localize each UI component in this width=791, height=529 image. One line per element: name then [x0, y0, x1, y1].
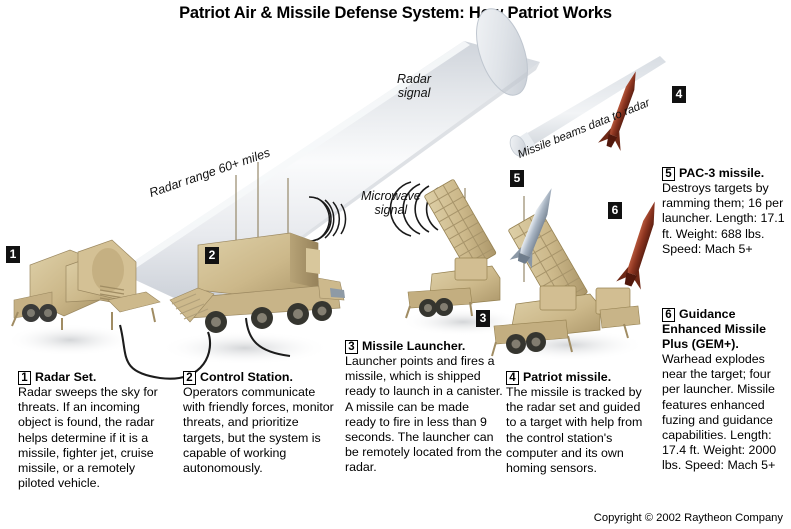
badge-1-radar-set: 1: [6, 246, 20, 263]
callout-6-badge: 6: [662, 308, 675, 322]
microwave-signal-label-line1: Microwave: [361, 189, 421, 203]
callout-2-control-station: 2Control Station. Operators communicate …: [183, 370, 335, 476]
callout-6-body: Warhead explodes near the target; four p…: [662, 352, 790, 474]
callout-5-header: 5PAC-3 missile.: [662, 166, 788, 181]
callout-5-title: PAC-3 missile.: [679, 166, 764, 180]
callout-3-badge: 3: [345, 340, 358, 354]
callout-6-title: Guidance Enhanced Missile Plus (GEM+).: [662, 307, 766, 351]
radar-signal-cone: [118, 2, 540, 315]
control-station-vehicle: [170, 233, 345, 333]
microwave-signal-label: Microwave signal: [361, 189, 421, 217]
callout-2-header: 2Control Station.: [183, 370, 335, 385]
badge-6-gem-plus: 6: [608, 202, 622, 219]
radar-set-vehicle: [12, 240, 160, 330]
ground-shadows: [6, 308, 645, 365]
radar-range-label: Radar range 60+ miles: [147, 145, 271, 200]
callout-4-title: Patriot missile.: [523, 370, 611, 384]
radar-signal-label-line2: signal: [398, 86, 431, 100]
callout-5-pac3-missile: 5PAC-3 missile. Destroys targets by ramm…: [662, 166, 788, 257]
microwave-arcs-left: [309, 197, 346, 241]
callout-6-header: 6Guidance Enhanced Missile Plus (GEM+).: [662, 307, 790, 352]
callout-1-badge: 1: [18, 371, 31, 385]
control-station-cable: [246, 318, 290, 356]
badge-3-missile-launcher: 3: [476, 310, 490, 327]
callout-1-body: Radar sweeps the sky for threats. If an …: [18, 385, 170, 491]
callout-1-header: 1Radar Set.: [18, 370, 170, 385]
badge-4-patriot-missile: 4: [672, 86, 686, 103]
callout-4-body: The missile is tracked by the radar set …: [506, 385, 654, 476]
badge-2-control-station: 2: [205, 247, 219, 264]
missile-beams-label: Missile beams data to radar: [516, 96, 652, 162]
callout-3-body: Launcher points and fires a missile, whi…: [345, 354, 503, 476]
radar-signal-label: Radar signal: [397, 72, 431, 100]
infographic-page: Patriot Air & Missile Defense System: Ho…: [0, 0, 791, 529]
antenna-masts: [236, 162, 524, 282]
missile-launcher-front: [492, 211, 640, 356]
badge-5-pac3-missile: 5: [510, 170, 524, 187]
callout-1-title: Radar Set.: [35, 370, 96, 384]
microwave-signal-label-line2: signal: [375, 203, 408, 217]
copyright-notice: Copyright © 2002 Raytheon Company: [594, 512, 783, 524]
callout-4-header: 4Patriot missile.: [506, 370, 654, 385]
callout-3-missile-launcher: 3Missile Launcher. Launcher points and f…: [345, 339, 503, 476]
pac3-missile-art: [510, 184, 563, 269]
callout-5-badge: 5: [662, 167, 675, 181]
callout-4-badge: 4: [506, 371, 519, 385]
callout-4-patriot-missile: 4Patriot missile. The missile is tracked…: [506, 370, 654, 476]
gem-plus-missile-art: [616, 198, 668, 290]
callout-3-header: 3Missile Launcher.: [345, 339, 503, 354]
page-title: Patriot Air & Missile Defense System: Ho…: [0, 4, 791, 23]
callout-3-title: Missile Launcher.: [362, 339, 465, 353]
callout-1-radar-set: 1Radar Set. Radar sweeps the sky for thr…: [18, 370, 170, 491]
callout-2-title: Control Station.: [200, 370, 293, 384]
callout-5-body: Destroys targets by ramming them; 16 per…: [662, 181, 788, 257]
callout-2-body: Operators communicate with friendly forc…: [183, 385, 335, 476]
callout-6-gem-plus: 6Guidance Enhanced Missile Plus (GEM+). …: [662, 307, 790, 474]
callout-2-badge: 2: [183, 371, 196, 385]
radar-signal-label-line1: Radar: [397, 72, 431, 86]
